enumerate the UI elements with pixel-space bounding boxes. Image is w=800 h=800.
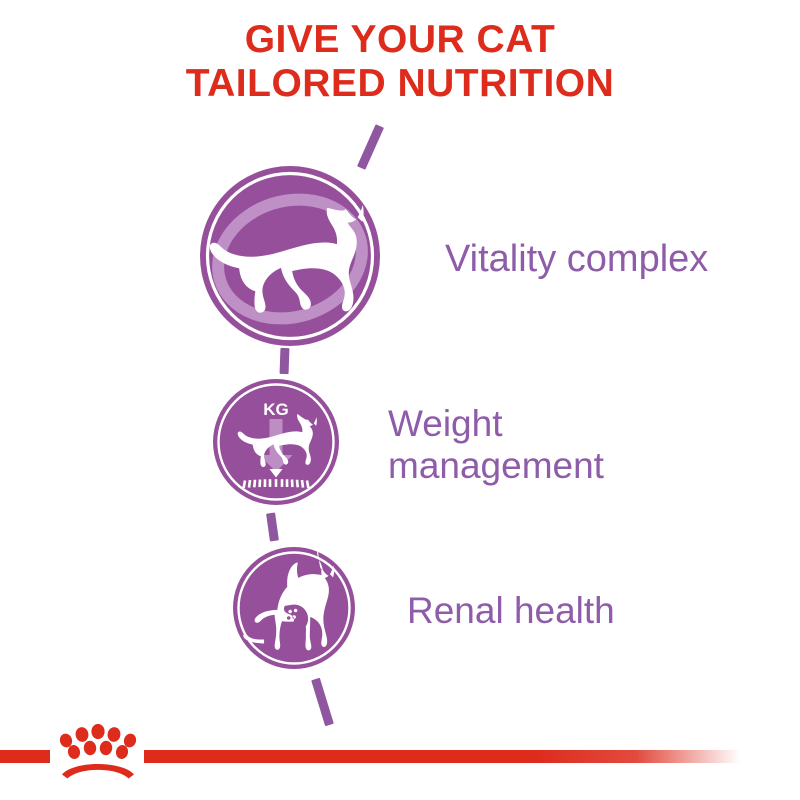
feature-item-vitality[interactable]: Vitality complex bbox=[197, 163, 708, 354]
feature-list: Vitality complex KG bbox=[0, 0, 800, 800]
feature-item-renal[interactable]: Renal health bbox=[231, 545, 615, 676]
kidney-cat-badge-icon bbox=[231, 545, 357, 676]
feature-label-weight: Weight management bbox=[388, 403, 604, 487]
feature-label-renal: Renal health bbox=[407, 590, 615, 632]
weight-scale-cat-badge-icon: KG bbox=[211, 377, 341, 512]
feature-label-vitality: Vitality complex bbox=[445, 238, 708, 280]
connector-dash-weight-to-renal bbox=[266, 513, 279, 542]
connector-dash-bottom bbox=[311, 678, 334, 727]
feature-item-weight[interactable]: KG bbox=[211, 377, 604, 512]
royal-canin-crown-logo bbox=[52, 724, 144, 784]
walking-cat-badge-icon bbox=[197, 163, 383, 354]
kg-text: KG bbox=[263, 400, 289, 419]
